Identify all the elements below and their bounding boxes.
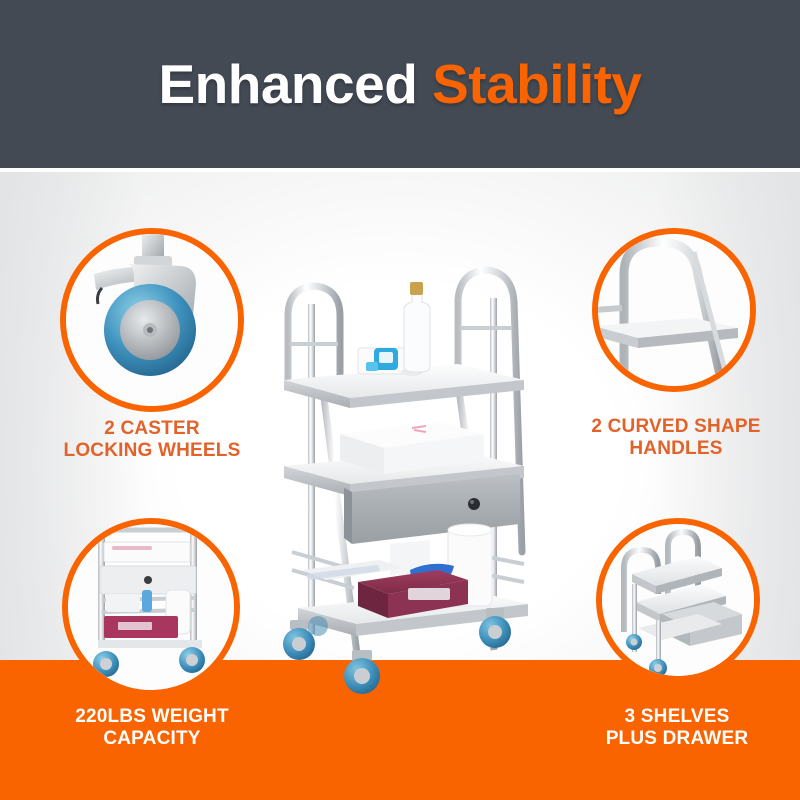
loaded-cart-svg [68, 524, 234, 690]
cart-svg [262, 252, 544, 700]
feature-caption-caster: 2 CASTER LOCKING WHEELS [40, 418, 264, 462]
shelves-drawer-svg [602, 524, 754, 676]
feature-caption-shelves: 3 SHELVES PLUS DRAWER [562, 706, 792, 750]
feature-circle-shelves[interactable] [596, 518, 760, 682]
loaded-cart-photo [68, 524, 234, 690]
feature-circle-capacity[interactable] [62, 518, 240, 696]
infographic-canvas: Enhanced Stability [0, 0, 800, 800]
shelves-drawer-photo [602, 524, 754, 676]
page-title-space [417, 53, 432, 115]
page-title-part2: Stability [432, 53, 641, 115]
top-shelf-items [358, 282, 430, 376]
handle-side-rail [598, 308, 622, 310]
feature-circle-caster[interactable] [60, 228, 244, 412]
bottle-gold-cap [410, 282, 423, 295]
handle-photo-svg [598, 234, 750, 386]
feature-circle-handles[interactable] [592, 228, 756, 392]
caster-photo [66, 234, 238, 406]
feature-caption-handles: 2 CURVED SHAPE HANDLES [560, 416, 792, 460]
page-title: Enhanced Stability [158, 57, 641, 112]
drawer-knob-small [144, 576, 152, 584]
product-cart-illustration [262, 252, 544, 700]
caster-back-left [308, 616, 328, 636]
page-title-part1: Enhanced [158, 53, 417, 115]
drawer-knob [468, 498, 480, 510]
pump-bottle [404, 288, 430, 372]
handle-photo [598, 234, 750, 386]
caster-center-front [344, 650, 380, 694]
caster-photo-svg [66, 234, 238, 406]
feature-caption-capacity: 220LBS WEIGHT CAPACITY [40, 706, 264, 750]
header-banner: Enhanced Stability [0, 0, 800, 168]
